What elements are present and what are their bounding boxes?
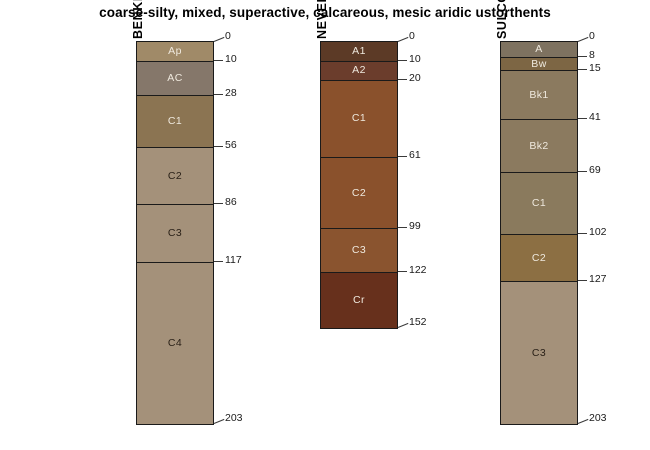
profile-name-label: SULCO <box>495 0 509 39</box>
depth-tick-label: 122 <box>409 264 427 276</box>
depth-tick-line <box>578 280 587 281</box>
depth-tick-line <box>398 156 407 157</box>
depth-tick-label: 0 <box>409 30 415 42</box>
profile-column: ABwBk1Bk2C1C2C3 <box>500 41 578 425</box>
horizon-block[interactable]: Cr <box>321 272 397 328</box>
horizon-label: C1 <box>352 113 366 124</box>
depth-tick-label: 99 <box>409 220 421 232</box>
depth-tick-line <box>214 94 223 95</box>
depth-tick-line <box>398 227 407 228</box>
depth-tick-label: 28 <box>225 87 237 99</box>
depth-tick-line <box>398 271 407 272</box>
depth-tick-label: 41 <box>589 111 601 123</box>
horizon-label: AC <box>167 73 182 84</box>
profile-column: A1A2C1C2C3Cr <box>320 41 398 329</box>
horizon-label: C3 <box>532 348 546 359</box>
depth-tick-line <box>398 37 409 42</box>
depth-tick-line <box>398 60 407 61</box>
depth-tick-label: 203 <box>225 412 243 424</box>
horizon-label: C2 <box>352 188 366 199</box>
depth-tick-line <box>398 323 409 328</box>
horizon-block[interactable]: A <box>501 42 577 57</box>
depth-tick-line <box>214 37 225 42</box>
depth-tick-line <box>578 171 587 172</box>
depth-tick-line <box>214 419 225 424</box>
depth-tick-line <box>214 146 223 147</box>
depth-tick-line <box>578 69 587 70</box>
horizon-block[interactable]: A1 <box>321 42 397 61</box>
horizon-label: Bk2 <box>529 141 548 152</box>
depth-tick-label: 20 <box>409 72 421 84</box>
depth-tick-label: 69 <box>589 164 601 176</box>
horizon-label: Bk1 <box>529 90 548 101</box>
depth-tick-label: 0 <box>589 30 595 42</box>
depth-tick-line <box>578 233 587 234</box>
profile-name-label: NEVEE <box>315 0 329 39</box>
depth-tick-line <box>578 419 589 424</box>
horizon-block[interactable]: Bw <box>501 57 577 70</box>
depth-tick-label: 102 <box>589 226 607 238</box>
horizon-block[interactable]: C2 <box>501 234 577 281</box>
depth-tick-label: 61 <box>409 149 421 161</box>
horizon-label: C1 <box>168 116 182 127</box>
horizon-label: C2 <box>532 253 546 264</box>
depth-tick-line <box>578 118 587 119</box>
horizon-block[interactable]: C3 <box>501 281 577 424</box>
horizon-label: C3 <box>168 228 182 239</box>
depth-tick-line <box>578 56 587 57</box>
soil-profile-sulco: SULCOABwBk1Bk2C1C2C308154169102127203 <box>0 0 160 450</box>
horizon-label: C3 <box>352 245 366 256</box>
depth-tick-label: 117 <box>225 254 242 266</box>
depth-tick-line <box>214 203 223 204</box>
horizon-label: C2 <box>168 171 182 182</box>
horizon-block[interactable]: A2 <box>321 61 397 80</box>
horizon-block[interactable]: C2 <box>321 157 397 229</box>
horizon-label: Ap <box>168 46 182 57</box>
horizon-block[interactable]: C1 <box>321 80 397 157</box>
horizon-block[interactable]: C1 <box>501 172 577 234</box>
depth-tick-line <box>398 79 407 80</box>
horizon-block[interactable]: Bk2 <box>501 119 577 172</box>
depth-tick-label: 56 <box>225 139 237 151</box>
depth-tick-label: 8 <box>589 49 595 61</box>
horizon-label: A1 <box>352 46 366 57</box>
horizon-label: A <box>535 44 542 55</box>
depth-tick-label: 10 <box>225 53 237 65</box>
depth-tick-label: 86 <box>225 196 237 208</box>
depth-tick-label: 203 <box>589 412 607 424</box>
horizon-label: C1 <box>532 198 546 209</box>
depth-tick-label: 10 <box>409 53 421 65</box>
horizon-block[interactable]: Bk1 <box>501 70 577 119</box>
horizon-label: Cr <box>353 295 365 306</box>
depth-tick-label: 0 <box>225 30 231 42</box>
depth-tick-label: 15 <box>589 62 601 74</box>
depth-tick-line <box>214 261 223 262</box>
depth-tick-line <box>214 60 223 61</box>
horizon-label: Bw <box>531 59 546 70</box>
horizon-label: A2 <box>352 65 366 76</box>
horizon-label: C4 <box>168 338 182 349</box>
depth-tick-label: 152 <box>409 316 427 328</box>
horizon-block[interactable]: C3 <box>321 228 397 271</box>
depth-tick-line <box>578 37 589 42</box>
depth-tick-label: 127 <box>589 273 607 285</box>
